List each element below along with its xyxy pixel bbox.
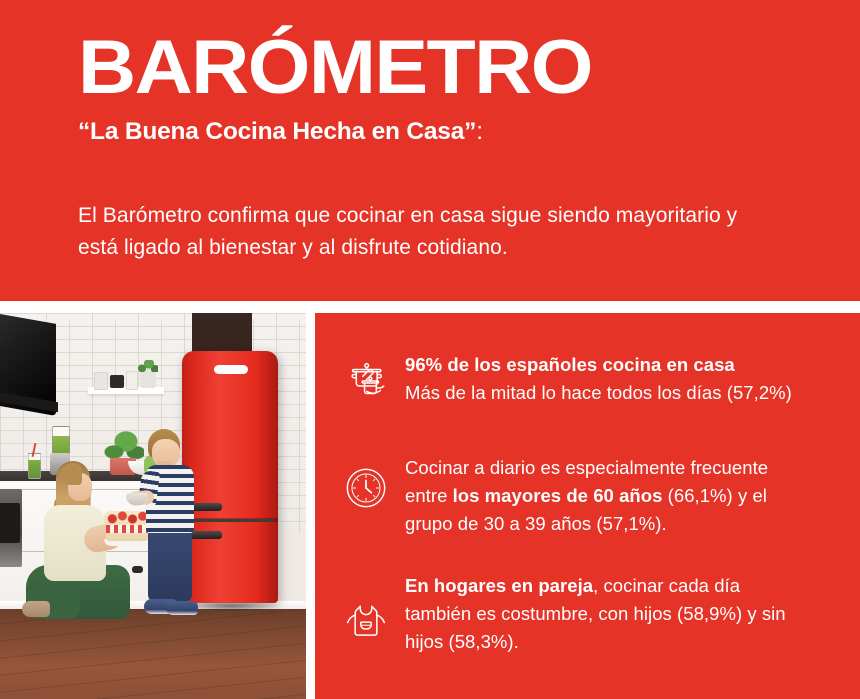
fact-text-cooking-at-home: 96% de los españoles cocina en casa Más … [405, 350, 842, 407]
photo-cake-decoration [106, 525, 148, 533]
fact-2-line-2-pre: entre [405, 485, 453, 506]
photo-cabinet-handle [132, 566, 143, 573]
fact-2-highlight: los mayores de 60 años [453, 485, 663, 506]
fact-2-line-1: Cocinar a diario es especialmente frecue… [405, 454, 842, 482]
photo-woman-hair-front [60, 463, 82, 485]
photo-oven-glass [0, 503, 20, 543]
subtitle-colon: : [476, 118, 483, 145]
photo-woman-shoe [22, 601, 50, 617]
photo-cake-strawberries [104, 511, 150, 524]
fact-3-line-2: también es costumbre, con hijos (58,9%) … [405, 600, 842, 628]
clock-icon [337, 459, 395, 517]
fact-3-line-1-post: , cocinar cada día [593, 575, 740, 596]
photo-smoothie-glass [28, 453, 41, 479]
cooking-pot-icon [337, 352, 395, 410]
page-subtitle: “La Buena Cocina Hecha en Casa”: [78, 117, 483, 147]
photo-shelf-cup [126, 371, 138, 390]
fact-3-line-1: En hogares en pareja, cocinar cada día [405, 572, 842, 600]
fact-2-line-2-post: (66,1%) y el [662, 485, 767, 506]
header-band: BARÓMETRO “La Buena Cocina Hecha en Casa… [0, 0, 860, 301]
photo-fridge-handle-lower [190, 531, 222, 539]
subtitle-text: “La Buena Cocina Hecha en Casa” [78, 118, 476, 145]
fact-2-line-3: grupo de 30 a 39 años (57,1%). [405, 510, 842, 538]
apron-icon [337, 591, 395, 649]
photo-red-fridge [182, 351, 278, 603]
photo-fridge-handle-upper [190, 503, 222, 511]
photo-herb-plant [104, 431, 144, 461]
fact-1-detail: Más de la mitad lo hace todos los días (… [405, 379, 842, 407]
photo-fridge-brand-logo [214, 365, 248, 374]
intro-paragraph: El Barómetro confirma que cocinar en cas… [78, 200, 778, 264]
fact-1-headline: 96% de los españoles cocina en casa [405, 351, 842, 379]
fact-text-daily-cooking-age: Cocinar a diario es especialmente frecue… [405, 453, 842, 538]
kitchen-photo [0, 313, 306, 699]
fact-item-cooking-at-home: 96% de los españoles cocina en casa Más … [337, 350, 842, 410]
photo-fridge-door-split [182, 518, 278, 522]
fact-3-line-3: hijos (58,3%). [405, 628, 842, 656]
fact-item-daily-cooking-age: Cocinar a diario es especialmente frecue… [337, 453, 842, 538]
photo-boy-shoe-right [166, 601, 198, 615]
key-facts-panel: 96% de los españoles cocina en casa Más … [315, 313, 860, 699]
photo-shelf-plant [140, 369, 156, 388]
fact-item-couple-households: En hogares en pareja, cocinar cada día t… [337, 571, 842, 656]
page-title: BARÓMETRO [78, 28, 592, 108]
fact-3-highlight: En hogares en pareja [405, 575, 593, 596]
infographic-root: BARÓMETRO “La Buena Cocina Hecha en Casa… [0, 0, 860, 699]
photo-wood-floor [0, 609, 306, 699]
fact-2-line-2: entre los mayores de 60 años (66,1%) y e… [405, 482, 842, 510]
photo-shelf-jar [94, 372, 108, 390]
fact-text-couple-households: En hogares en pareja, cocinar cada día t… [405, 571, 842, 656]
photo-shelf-clock [110, 375, 124, 388]
photo-boy-trousers [148, 527, 192, 601]
